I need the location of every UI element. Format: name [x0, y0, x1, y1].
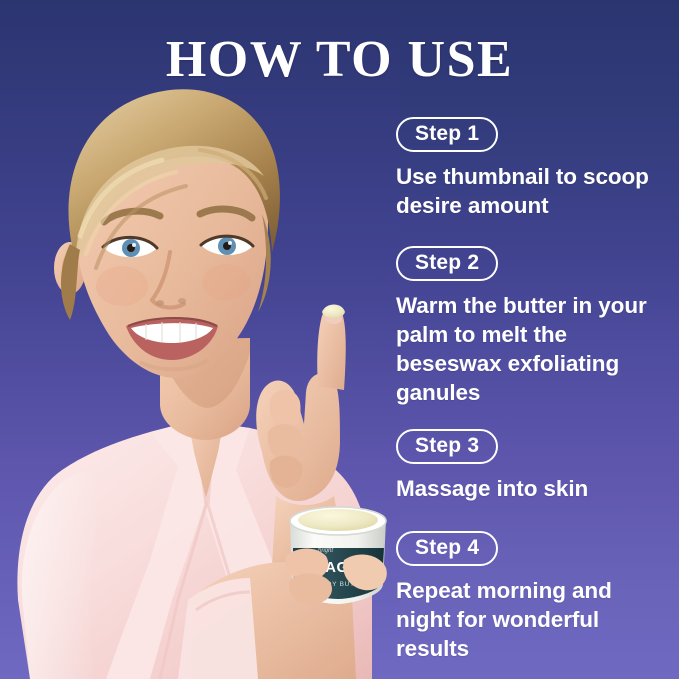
jar-balm-surface — [298, 509, 378, 531]
step-item: Step 3 Massage into skin — [396, 429, 668, 503]
step-2-badge: Step 2 — [396, 246, 498, 281]
step-3-text: Massage into skin — [396, 474, 668, 503]
step-item: Step 4 Repeat morning and night for wond… — [396, 531, 668, 663]
step-1-badge: Step 1 — [396, 117, 498, 152]
step-1-text: Use thumbnail to scoop desire amount — [396, 162, 668, 220]
step-item: Step 2 Warm the butter in your palm to m… — [396, 246, 668, 407]
step-4-text: Repeat morning and night for wonderful r… — [396, 576, 668, 663]
model-photo: bright MAGNES BODY BUTTER — [0, 0, 400, 679]
how-to-use-infographic: bright MAGNES BODY BUTTER HOW TO USE — [0, 0, 679, 679]
step-4-badge: Step 4 — [396, 531, 498, 566]
steps-list: Step 1 Use thumbnail to scoop desire amo… — [396, 117, 668, 679]
step-3-badge: Step 3 — [396, 429, 498, 464]
step-2-text: Warm the butter in your palm to melt the… — [396, 291, 668, 407]
step-item: Step 1 Use thumbnail to scoop desire amo… — [396, 117, 668, 220]
page-title: HOW TO USE — [0, 31, 679, 89]
